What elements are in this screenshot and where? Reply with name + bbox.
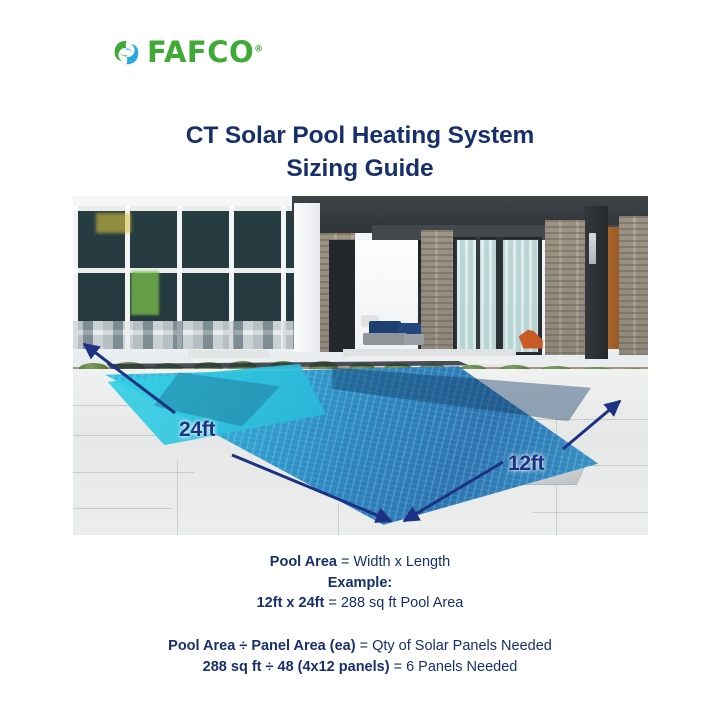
brand-wordmark: FAFCO® (147, 38, 264, 67)
photo-porch-shadow-left (329, 240, 354, 352)
formula-panel-example-term: 288 sq ft ÷ 48 (4x12 panels) (203, 659, 390, 675)
brand-logo[interactable]: FAFCO® (113, 38, 264, 67)
fafco-swirl-square-icon (113, 39, 140, 66)
photo-stone-veneer-column-2 (421, 230, 453, 352)
formula-panel-quantity-line-2: 288 sq ft ÷ 48 (4x12 panels) = 6 Panels … (0, 657, 720, 678)
formula-panel-quantity: Pool Area ÷ Panel Area (ea) = Qty of Sol… (0, 636, 720, 677)
formula-pool-area-expression: = Width x Length (337, 554, 450, 570)
formula-pool-area-term: Pool Area (270, 554, 337, 570)
dimension-label-length: 24ft (179, 418, 215, 442)
formula-panel-term: Pool Area ÷ Panel Area (ea) (168, 638, 355, 654)
formula-panel-expression: = Qty of Solar Panels Needed (356, 638, 552, 654)
formula-pool-area-line-1: Pool Area = Width x Length (0, 552, 720, 573)
formula-panel-example-result: = 6 Panels Needed (390, 659, 518, 675)
page-title: CT Solar Pool Heating System Sizing Guid… (0, 120, 720, 185)
photo-dark-column (585, 206, 608, 359)
photo-wall-sconce (589, 233, 595, 264)
formula-pool-area-line-3: 12ft x 24ft = 288 sq ft Pool Area (0, 593, 720, 614)
pool-photograph (73, 196, 648, 535)
formula-pool-area-line-2: Example: (0, 573, 720, 594)
formula-example-result: = 288 sq ft Pool Area (324, 595, 463, 611)
formula-pool-area: Pool Area = Width x Length Example: 12ft… (0, 552, 720, 614)
formula-example-heading: Example: (328, 575, 392, 591)
photo-white-column (294, 203, 320, 352)
formula-example-term: 12ft x 24ft (257, 595, 325, 611)
photo-stone-veneer-column-4 (619, 216, 648, 355)
photo-stone-veneer-column-3 (545, 220, 585, 356)
dimension-label-width: 12ft (508, 452, 544, 476)
registered-mark: ® (254, 44, 264, 54)
photo-window-reflection-yellow (96, 213, 131, 233)
formula-panel-quantity-line-1: Pool Area ÷ Panel Area (ea) = Qty of Sol… (0, 636, 720, 657)
photo-door-mullion-left (476, 237, 480, 356)
page-title-line-2: Sizing Guide (286, 155, 433, 182)
page-title-line-1: CT Solar Pool Heating System (186, 122, 534, 149)
photo-door-mullion-center (496, 237, 503, 356)
photo-window-reflection-green (131, 271, 160, 315)
